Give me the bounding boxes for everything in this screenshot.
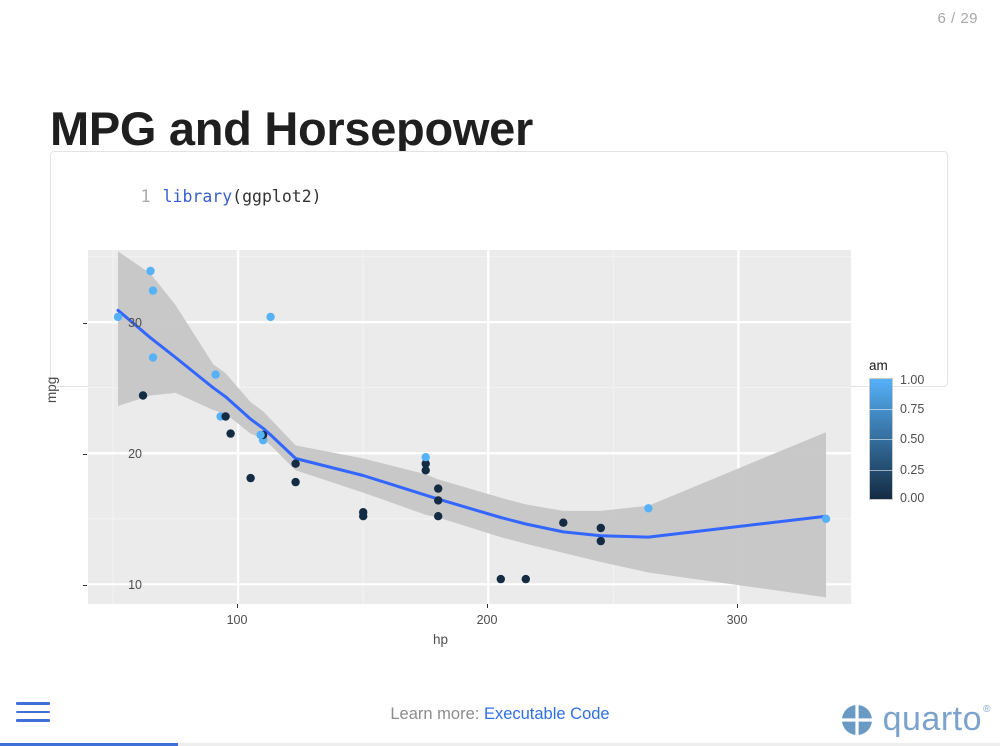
code-line-1: 1library(ggplot2) [51, 161, 947, 233]
slide-footer: Learn more: Executable Code quarto ® [0, 690, 1000, 746]
line-number: 1 [125, 185, 151, 209]
page-title: MPG and Horsepower [50, 103, 533, 155]
legend-tick [869, 409, 893, 410]
x-tick-mark [737, 604, 738, 608]
y-tick-mark [83, 454, 87, 455]
plot-canvas [88, 250, 851, 604]
legend-label-1: 1.00 [900, 373, 924, 387]
quarto-word-text: quarto [883, 700, 982, 738]
legend: am 1.00 0.75 0.50 0.25 0.00 [868, 358, 968, 500]
quarto-mark-icon [840, 703, 874, 737]
learn-more-label: Learn more: [390, 705, 479, 723]
registered-mark-icon: ® [983, 704, 991, 715]
code-token-function: library [163, 187, 233, 206]
y-tick-label-10: 10 [102, 578, 142, 592]
y-tick-label-20: 20 [102, 447, 142, 461]
quarto-wordmark: quarto ® [883, 700, 982, 739]
executable-code-link[interactable]: Executable Code [484, 705, 610, 723]
x-tick-mark [237, 604, 238, 608]
legend-tick [869, 439, 893, 440]
page-counter: 6 / 29 [937, 10, 978, 27]
y-tick-mark [83, 323, 87, 324]
x-tick-mark [487, 604, 488, 608]
x-axis-label: hp [30, 632, 851, 647]
plot-panel [88, 250, 851, 604]
y-axis-label: mpg [44, 377, 59, 403]
x-tick-label-100: 100 [217, 613, 257, 627]
code-token-args: (ggplot2) [232, 187, 321, 206]
legend-label-075: 0.75 [900, 402, 924, 416]
y-tick-label-30: 30 [102, 316, 142, 330]
ggplot-figure: 30 20 10 mpg 100 200 300 hp am 1.00 0.75… [30, 243, 970, 643]
legend-label-025: 0.25 [900, 463, 924, 477]
quarto-logo: quarto ® [840, 700, 982, 739]
legend-label-0: 0.00 [900, 491, 924, 505]
legend-label-05: 0.50 [900, 432, 924, 446]
legend-tick [869, 470, 893, 471]
slide-root: 6 / 29 MPG and Horsepower 1library(ggplo… [0, 0, 1000, 746]
y-tick-mark [83, 585, 87, 586]
x-tick-label-300: 300 [717, 613, 757, 627]
x-tick-label-200: 200 [467, 613, 507, 627]
legend-title: am [869, 358, 968, 373]
legend-colorbar-wrap: 1.00 0.75 0.50 0.25 0.00 [868, 378, 968, 500]
